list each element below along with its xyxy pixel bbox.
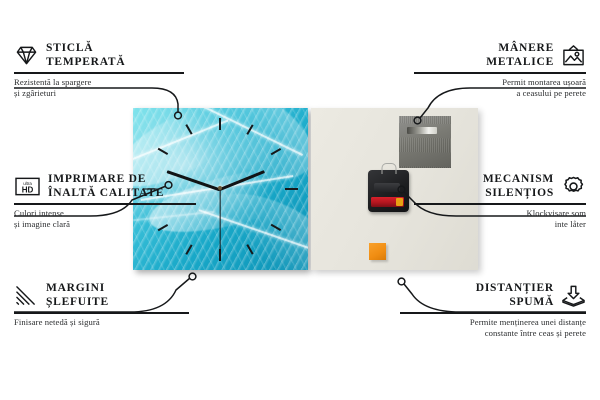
marker-edges: [189, 273, 196, 280]
feature-title: DISTANȚIER SPUMĂ: [476, 282, 554, 309]
battery: [371, 197, 405, 207]
feature-header: MÂNERE METALICE: [414, 42, 586, 69]
feature-foam-spacer: DISTANȚIER SPUMĂ Permite menținerea unei…: [400, 282, 586, 339]
mechanism-slot: [374, 183, 400, 192]
feature-title: IMPRIMARE DE ÎNALTĂ CALITATE: [48, 173, 164, 200]
clock-hub: [218, 186, 222, 190]
feature-header: MARGINI ȘLEFUITE: [14, 282, 189, 309]
feature-description: Rezistentă la spargere și zgârieturi: [14, 77, 184, 99]
feature-divider: [14, 312, 189, 313]
feature-description: Permite menținerea unei distanțe constan…: [400, 317, 586, 339]
svg-text:HD: HD: [22, 185, 34, 194]
battery-terminal: [396, 198, 403, 206]
feature-description: Finisare netedă și sigură: [14, 317, 189, 328]
feature-divider: [14, 203, 196, 204]
metal-hanger-bar: [407, 127, 437, 134]
feature-polished-edges: MARGINI ȘLEFUITE Finisare netedă și sigu…: [14, 282, 189, 328]
clock-mechanism: [368, 170, 409, 212]
feature-title: MARGINI ȘLEFUITE: [46, 282, 109, 309]
clock-tick: [285, 188, 298, 190]
feature-divider: [414, 72, 586, 73]
feature-description: Klockvisare som inte låter: [414, 208, 586, 230]
ultra-hd-icon: ultra HD: [14, 175, 41, 198]
feature-header: DISTANȚIER SPUMĂ: [400, 282, 586, 309]
feature-high-quality-print: ultra HD IMPRIMARE DE ÎNALTĂ CALITATE Cu…: [14, 173, 196, 230]
infographic-canvas: STICLĂ TEMPERATĂ Rezistentă la spargere …: [0, 0, 600, 400]
feature-header: ultra HD IMPRIMARE DE ÎNALTĂ CALITATE: [14, 173, 196, 200]
feature-description: Permit montarea ușoară a ceasului pe per…: [414, 77, 586, 99]
clock-tick: [185, 244, 192, 254]
picture-frame-hanger-icon: [561, 44, 586, 67]
gear-icon: [561, 175, 586, 198]
clock-tick: [219, 249, 221, 261]
feature-description: Culori intense și imagine clară: [14, 208, 196, 230]
feature-title: MÂNERE METALICE: [486, 42, 554, 69]
feature-metal-handles: MÂNERE METALICE Permit montarea ușoară a…: [414, 42, 586, 99]
diagonal-lines-icon: [14, 284, 39, 307]
clock-second-hand: [219, 189, 220, 251]
hanger-loop: [381, 163, 396, 174]
feature-title: STICLĂ TEMPERATĂ: [46, 42, 125, 69]
down-arrow-stack-icon: [561, 284, 586, 307]
feature-title: MECANISM SILENȚIOS: [483, 173, 554, 200]
feature-tempered-glass: STICLĂ TEMPERATĂ Rezistentă la spargere …: [14, 42, 184, 99]
feature-divider: [400, 312, 586, 313]
clock-tick: [219, 118, 221, 130]
feature-divider: [414, 203, 586, 204]
feature-silent-mechanism: MECANISM SILENȚIOS Klockvisare som inte …: [414, 173, 586, 230]
metal-hanger-swatch: [399, 116, 451, 168]
feature-header: STICLĂ TEMPERATĂ: [14, 42, 184, 69]
feature-divider: [14, 72, 184, 73]
diamond-icon: [14, 44, 39, 67]
feature-header: MECANISM SILENȚIOS: [414, 173, 586, 200]
foam-spacer-swatch: [369, 243, 386, 260]
